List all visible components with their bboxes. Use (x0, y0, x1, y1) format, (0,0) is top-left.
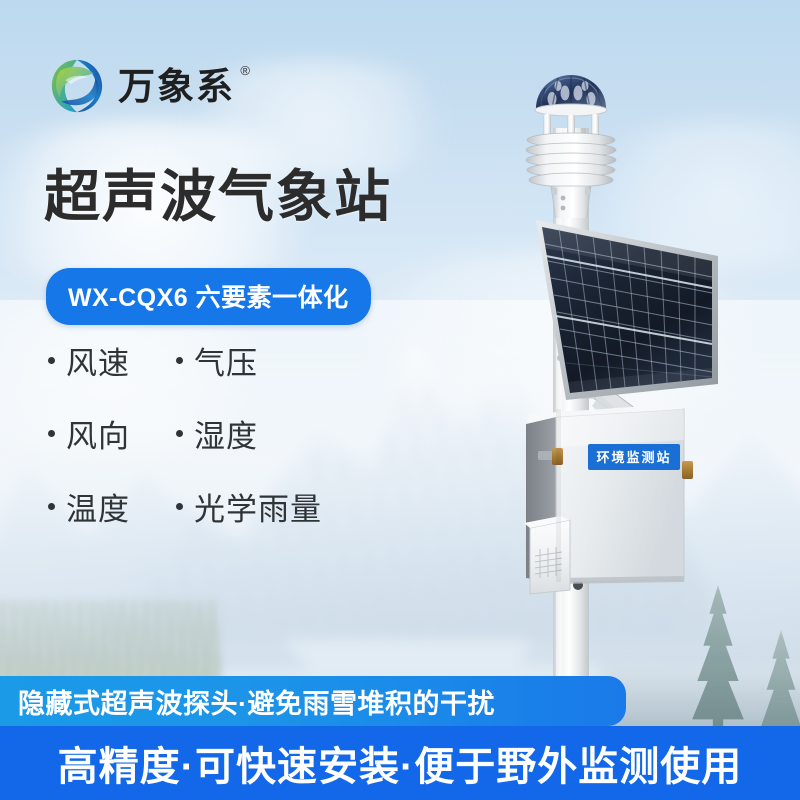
feature-label: 湿度 (194, 411, 258, 456)
feature-list: 风速 气压 风向 湿度 温度 光学雨量 (48, 338, 322, 529)
feature-label: 光学雨量 (194, 484, 322, 529)
bullet-icon (176, 357, 183, 364)
feature-item-temperature: 温度 (48, 484, 176, 529)
globe-swirl-logo-icon (48, 57, 106, 115)
feature-banner-secondary-text: 高精度·可快速安装·便于野外监测使用 (58, 734, 743, 792)
registered-mark: ® (240, 64, 252, 77)
feature-item-humidity: 湿度 (176, 411, 258, 456)
feature-banner-secondary: 高精度·可快速安装·便于野外监测使用 (0, 726, 800, 800)
equipment-cabinet-icon (524, 405, 693, 594)
feature-item-wind-speed: 风速 (48, 338, 176, 383)
feature-row: 风向 湿度 (48, 411, 322, 456)
bullet-icon (48, 503, 55, 510)
ultrasonic-sensor-dome-icon (535, 75, 607, 140)
feature-label: 温度 (66, 484, 130, 529)
cabinet-label: 环境监测站 (588, 444, 680, 470)
brand-name: 万象系 ® (118, 68, 235, 105)
feature-item-wind-direction: 风向 (48, 411, 176, 456)
feature-label: 风速 (66, 338, 130, 383)
feature-row: 风速 气压 (48, 338, 322, 383)
bullet-icon (176, 503, 183, 510)
radiation-shield-icon (526, 133, 616, 222)
feature-label: 气压 (194, 338, 258, 383)
feature-label: 风向 (66, 411, 130, 456)
feature-item-optical-rainfall: 光学雨量 (176, 484, 322, 529)
feature-row: 温度 光学雨量 (48, 484, 322, 529)
feature-item-air-pressure: 气压 (176, 338, 258, 383)
bullet-icon (176, 430, 183, 437)
model-badge: WX-CQX6 六要素一体化 (46, 268, 371, 325)
feature-banner-primary-text: 隐藏式超声波探头·避免雨雪堆积的干扰 (0, 682, 495, 721)
bullet-icon (48, 357, 55, 364)
brand-name-text: 万象系 (118, 66, 235, 107)
cabinet-label-text: 环境监测站 (596, 451, 671, 464)
poster-canvas: 环境监测站 (0, 0, 800, 800)
feature-banner-primary: 隐藏式超声波探头·避免雨雪堆积的干扰 (0, 676, 626, 726)
bullet-icon (48, 430, 55, 437)
page-title: 超声波气象站 (44, 166, 392, 229)
brand-logo: 万象系 ® (48, 57, 235, 115)
